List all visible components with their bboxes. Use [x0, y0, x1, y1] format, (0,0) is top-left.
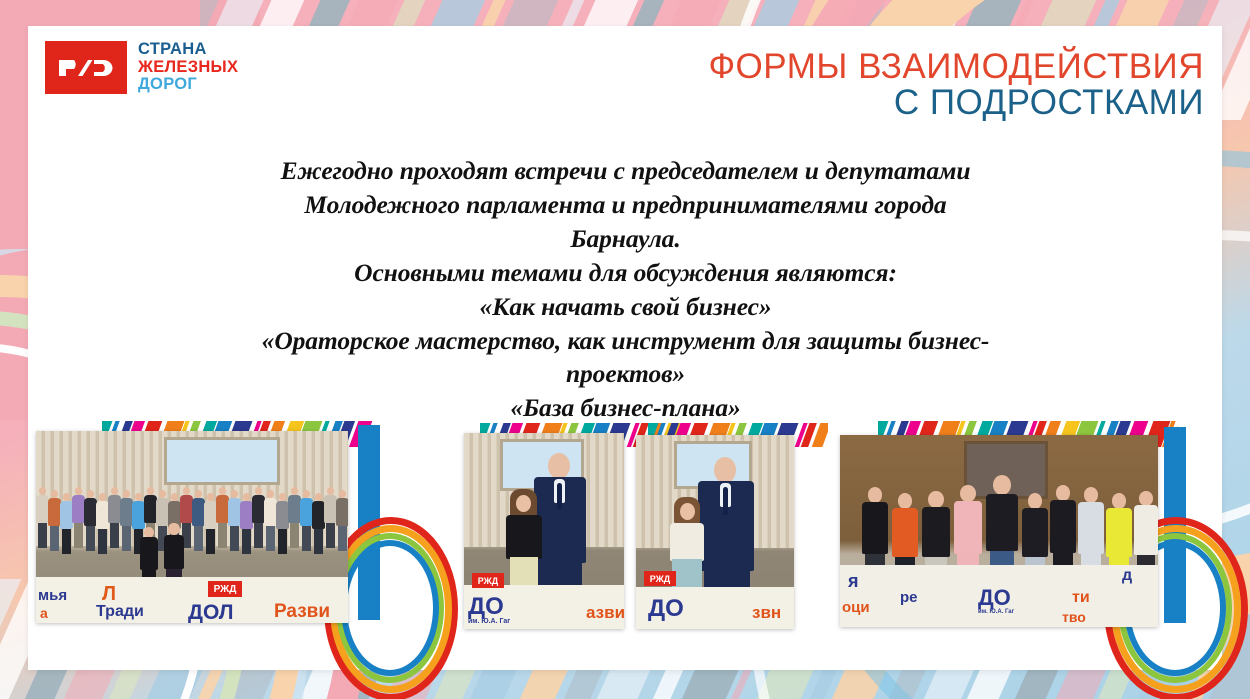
photo-person-torso [1106, 508, 1132, 557]
photo-1-banner-text-1: мья [38, 587, 67, 604]
body-line: Барнаула. [138, 222, 1113, 256]
photo-person-head [315, 493, 322, 501]
brand-logo-text: СТРАНА ЖЕЛЕЗНЫХ ДОРОГ [138, 41, 238, 94]
photo-person-torso [164, 535, 184, 569]
photo-1-banner-text-6: Разви [274, 601, 330, 623]
photo-person-head [63, 493, 70, 501]
photo-person-torso [1022, 508, 1048, 557]
photo-person-head [219, 487, 226, 495]
photo-person-head [195, 490, 202, 498]
photo-person-legs [302, 526, 312, 551]
photo-person-legs [74, 523, 84, 548]
photo-person-head [243, 493, 250, 501]
photo-person-head [171, 493, 178, 501]
photo-3-girl-top [670, 523, 704, 561]
photo-person-head [135, 493, 142, 501]
photo-person-legs [314, 529, 324, 554]
body-line: Ежегодно проходят встречи с председателе… [138, 154, 1113, 188]
photo-1-banner: мья а Л Тради ДОЛ Разви РЖД [36, 577, 348, 623]
photo-1-rzd-badge: РЖД [208, 581, 242, 597]
photo-person-legs [338, 526, 348, 551]
body-line: «Ораторское мастерство, как инструмент д… [138, 324, 1113, 358]
photo-person-head [1028, 493, 1043, 509]
photo-person-head [183, 487, 190, 495]
photo-person-head [207, 493, 214, 501]
photo-person-head [327, 487, 334, 495]
photo-person-head [123, 490, 130, 498]
brand-line-1: СТРАНА [138, 41, 238, 58]
photo-person [336, 490, 348, 552]
photo-person-head [99, 493, 106, 501]
photo-person-legs [98, 529, 108, 554]
photo-person-legs [278, 529, 288, 554]
body-line: Молодежного парламента и предпринимателя… [138, 188, 1113, 222]
photo-4-banner-text-6: ти [1072, 589, 1090, 607]
page-title: ФОРМЫ ВЗАИМОДЕЙСТВИЯ С ПОДРОСТКАМИ [708, 49, 1204, 122]
photo-person-torso [1134, 505, 1158, 555]
photo-person-torso [140, 537, 158, 569]
brand-logo: СТРАНА ЖЕЛЕЗНЫХ ДОРОГ [45, 41, 238, 94]
photo-person-head [87, 490, 94, 498]
photo-person-legs [326, 523, 336, 548]
photo-1-banner-text-2: а [40, 605, 48, 621]
photo-person-legs [110, 523, 120, 548]
photo-2-deputy-tie [557, 483, 562, 509]
photo-3-deputy-tie [723, 487, 728, 515]
photo-2-rzd-badge: РЖД [472, 573, 504, 588]
photo-2-banner-text-3: азви [586, 603, 624, 623]
photo-4-banner-text-1: я [848, 571, 859, 592]
slide-card: СТРАНА ЖЕЛЕЗНЫХ ДОРОГ ФОРМЫ ВЗАИМОДЕЙСТВ… [28, 26, 1222, 670]
page-title-line-2: С ПОДРОСТКАМИ [708, 85, 1204, 121]
photo-3-banner-text-2: звн [752, 603, 781, 623]
photo-4-banner: я оци ре ДО им. Ю.А. Гаг ти тво д [840, 565, 1158, 627]
photo-person-head [1139, 491, 1152, 506]
photo-2-girl-top [506, 515, 542, 559]
photo-person-head [291, 487, 298, 495]
photo-person-legs [290, 523, 300, 548]
photo-1-rainbow-arc-4 [341, 540, 439, 676]
photo-4-banner-text-5: им. Ю.А. Гаг [978, 609, 1014, 615]
photo-person-legs [206, 529, 216, 554]
photo-1-banner-text-4: Тради [96, 603, 144, 621]
photo-person-head [279, 493, 286, 501]
photo-person-head [75, 487, 82, 495]
photo-person-head [39, 487, 46, 495]
photo-person-head [231, 490, 238, 498]
photo-2-banner-text-2: им. Ю.А. Гаг [468, 618, 510, 625]
photo-4-banner-text-2: оци [842, 599, 870, 616]
photo-person-torso [892, 508, 918, 557]
photo-person-head [267, 490, 274, 498]
photo-person-legs [194, 526, 204, 551]
photo-4-banner-text-3: ре [900, 589, 918, 606]
photo-deputy-with-girl-white-top: ДО звн РЖД [636, 435, 794, 629]
brand-line-3: ДОРОГ [138, 76, 238, 93]
photo-person-legs [62, 529, 72, 554]
body-line: «Как начать свой бизнес» [138, 290, 1113, 324]
photo-person-head [868, 487, 883, 503]
photo-person-legs [38, 523, 48, 548]
slide-root: СТРАНА ЖЕЛЕЗНЫХ ДОРОГ ФОРМЫ ВЗАИМОДЕЙСТВ… [0, 0, 1250, 699]
photo-2-deputy-head [548, 453, 570, 479]
photo-person-legs [122, 526, 132, 551]
photo-group-hall-large: мья а Л Тради ДОЛ Разви РЖД [36, 431, 348, 623]
photo-4-banner-text-8: д [1122, 567, 1132, 585]
photo-person-torso [862, 502, 888, 554]
rzd-logo-mark [45, 41, 127, 94]
photo-person-head [51, 490, 58, 498]
photo-person-legs [50, 526, 60, 551]
photo-person-head [111, 487, 118, 495]
photo-person-legs [86, 526, 96, 551]
photo-2-banner-text-1: ДО [468, 593, 504, 621]
photo-3-girl-face [680, 503, 695, 520]
photo-person-legs [230, 526, 240, 551]
photo-person-legs [242, 529, 252, 554]
photo-person-legs [254, 523, 264, 548]
photo-2-girl-face [516, 495, 531, 512]
photo-person-head [303, 490, 310, 498]
photo-person-head [255, 487, 262, 495]
photo-person-torso [954, 501, 982, 553]
photo-1-projection-screen [164, 437, 280, 485]
photo-person-torso [1078, 502, 1104, 554]
photo-person-torso [986, 494, 1018, 551]
photo-deputy-with-girl-black-shirt: ДО им. Ю.А. Гаг азви РЖД [464, 433, 624, 629]
photo-person-head [898, 493, 913, 509]
photo-person-head [993, 475, 1011, 495]
brand-line-2: ЖЕЛЕЗНЫХ [138, 59, 238, 76]
photo-person-head [339, 490, 346, 498]
photo-person-head [159, 490, 166, 498]
photo-1-banner-text-5: ДОЛ [188, 601, 234, 623]
photo-3-deputy-head [714, 457, 736, 483]
photo-4-banner-text-7: тво [1062, 609, 1086, 625]
photo-person-head [1056, 485, 1071, 501]
photo-3-banner: ДО звн РЖД [636, 587, 794, 629]
photo-2-banner: ДО им. Ю.А. Гаг азви РЖД [464, 585, 624, 629]
photo-person-torso [336, 498, 348, 527]
body-line: Основными темами для обсуждения являются… [138, 256, 1113, 290]
photo-person-head [1112, 493, 1127, 509]
photo-person-torso [1050, 500, 1076, 552]
photo-person-legs [266, 526, 276, 551]
photo-person-head [1084, 487, 1099, 503]
body-text-block: Ежегодно проходят встречи с председателе… [138, 154, 1113, 425]
body-line: проектов» [138, 357, 1113, 391]
photo-person-head [147, 487, 154, 495]
photo-3-banner-text-1: ДО [648, 595, 684, 623]
photo-4-banner-text-4: ДО [978, 585, 1011, 611]
page-title-line-1: ФОРМЫ ВЗАИМОДЕЙСТВИЯ [708, 49, 1204, 85]
photo-person-head [168, 523, 179, 535]
photo-person-legs [218, 523, 228, 548]
photo-person-head [960, 485, 976, 502]
photo-3-rzd-badge: РЖД [644, 571, 676, 586]
photo-group-ten-teens: я оци ре ДО им. Ю.А. Гаг ти тво д [840, 435, 1158, 627]
photo-person-torso [922, 507, 950, 557]
photo-gallery: мья а Л Тради ДОЛ Разви РЖД [28, 421, 1222, 661]
photo-person-head [928, 491, 944, 508]
